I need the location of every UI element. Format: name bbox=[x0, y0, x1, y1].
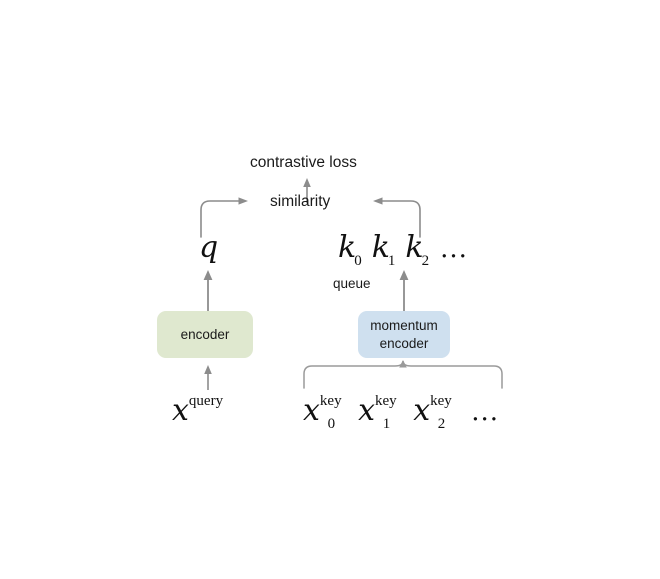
query-input-base: x bbox=[172, 393, 189, 428]
momentum-encoder-box[interactable]: momentum encoder bbox=[358, 311, 450, 358]
momentum-encoder-label-line2: encoder bbox=[380, 336, 429, 351]
query-input-to-encoder-arrow bbox=[197, 363, 219, 391]
key-2: k bbox=[405, 230, 423, 265]
key-input-0-base: x bbox=[303, 393, 320, 428]
key-input-0-subscript: 0 bbox=[328, 416, 336, 432]
key-inputs-ellipsis: ... bbox=[471, 397, 499, 427]
query-input-superscript: query bbox=[189, 393, 223, 409]
momentum-encoder-label-line1: momentum bbox=[370, 318, 438, 333]
encoder-box-label: encoder bbox=[181, 326, 230, 343]
key-inputs-grouping-brace bbox=[298, 360, 508, 390]
key-1-subscript: 1 bbox=[388, 253, 396, 269]
encoder-to-query-arrow bbox=[197, 268, 219, 313]
key-0-subscript: 0 bbox=[354, 253, 362, 269]
contrastive-loss-label: contrastive loss bbox=[250, 155, 357, 171]
key-input-2-subscript: 2 bbox=[438, 416, 446, 432]
keys-ellipsis: ... bbox=[440, 234, 468, 264]
query-representation: q bbox=[199, 233, 218, 263]
key-input-0-superscript: key bbox=[320, 393, 342, 409]
queue-label: queue bbox=[333, 277, 371, 291]
moco-architecture-diagram: contrastive loss similarity q encoder xq… bbox=[0, 0, 660, 579]
momentum-encoder-box-label: momentum encoder bbox=[370, 317, 438, 352]
key-input-1-subscript: 1 bbox=[383, 416, 391, 432]
key-input-2-superscript: key bbox=[430, 393, 452, 409]
encoder-box[interactable]: encoder bbox=[157, 311, 253, 358]
key-input-1-superscript: key bbox=[375, 393, 397, 409]
momentum-encoder-to-keys-arrow bbox=[393, 268, 415, 313]
similarity-label: similarity bbox=[270, 194, 330, 210]
query-input: xquery bbox=[172, 396, 223, 426]
key-input-1-base: x bbox=[358, 393, 375, 428]
key-representations: k0k1k2... bbox=[338, 233, 468, 263]
key-inputs: xkey0xkey1xkey2... bbox=[303, 396, 499, 426]
key-input-2-base: x bbox=[413, 393, 430, 428]
key-2-subscript: 2 bbox=[422, 253, 430, 269]
